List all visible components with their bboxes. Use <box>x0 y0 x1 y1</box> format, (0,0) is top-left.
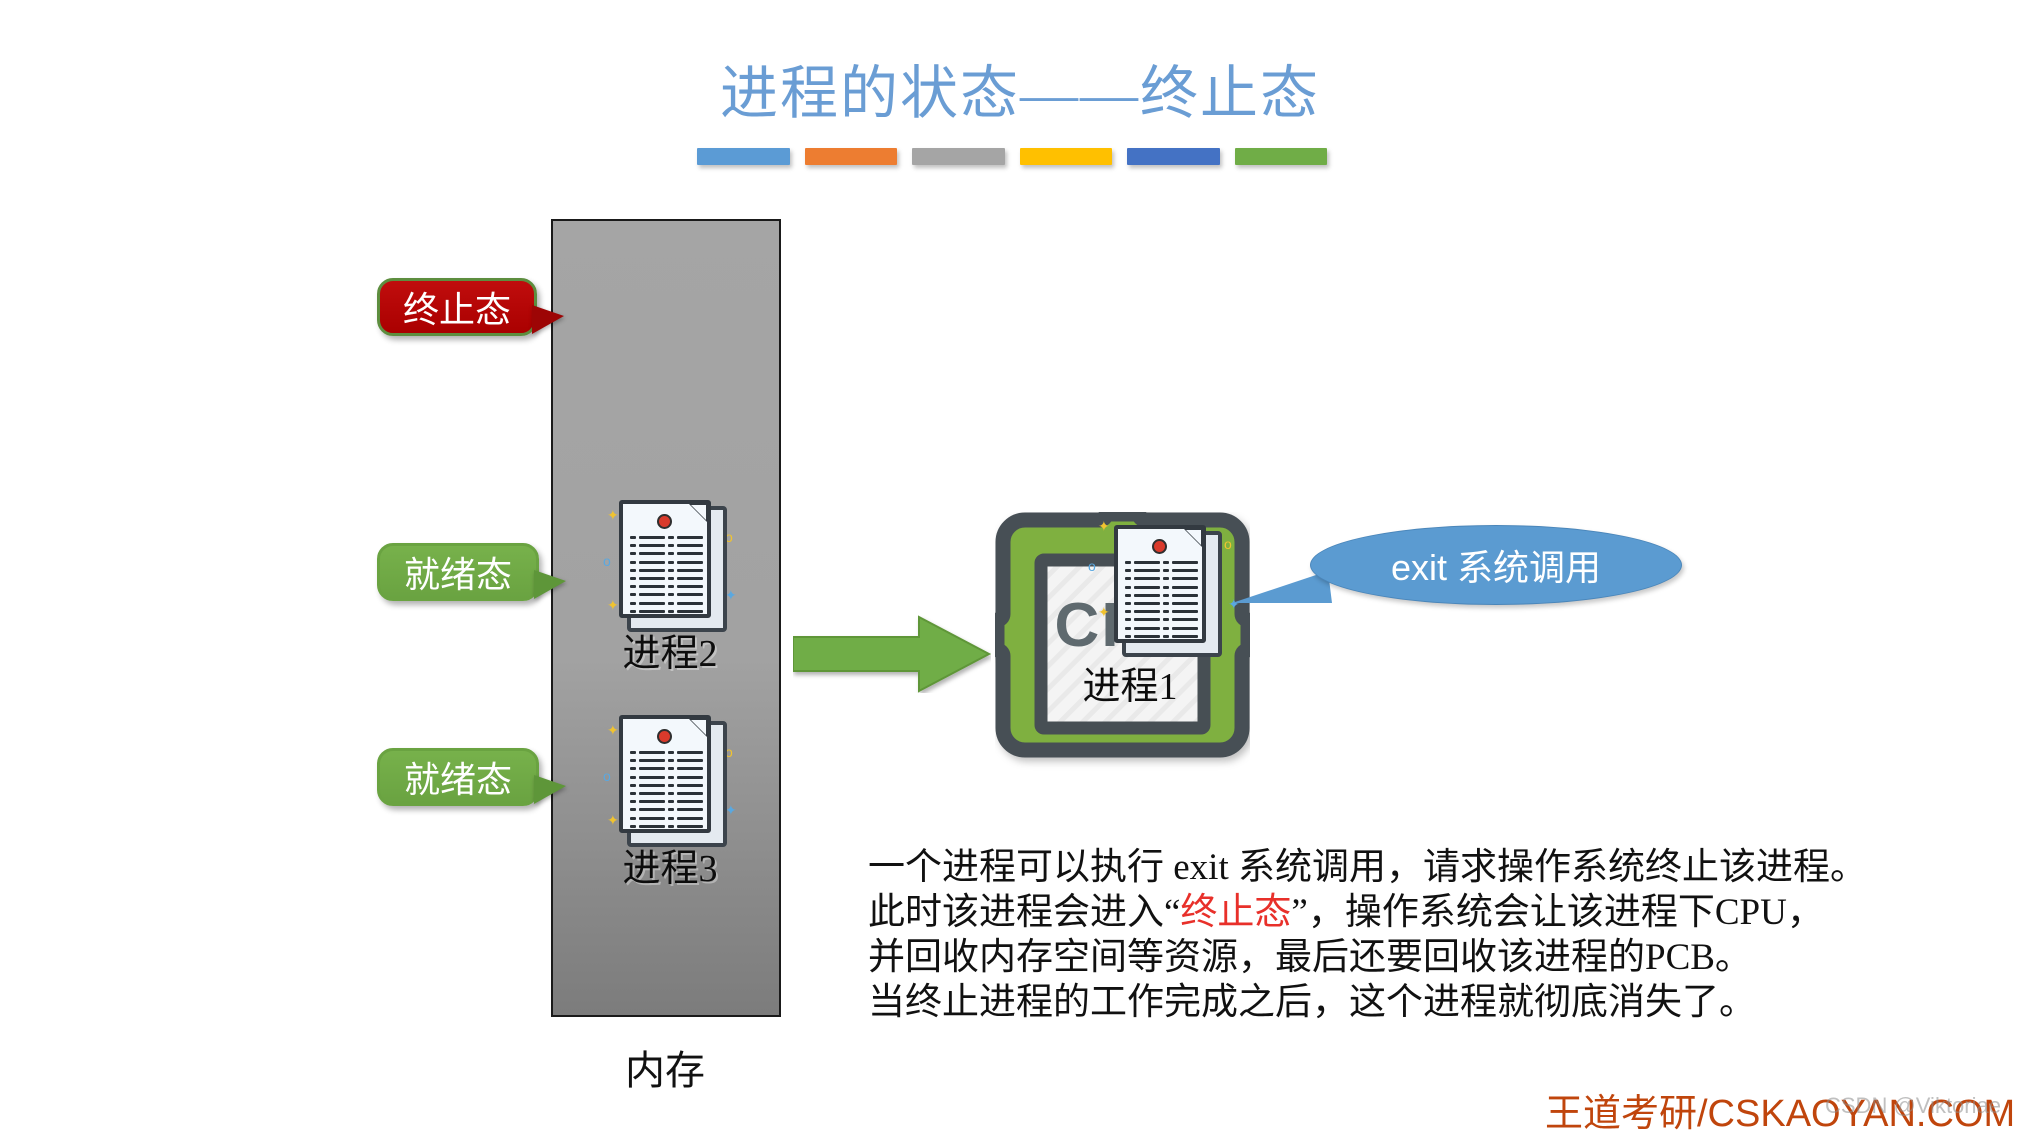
explanation-line-2: 此时该进程会进入“终止态”，操作系统会让该进程下CPU， <box>868 890 1958 935</box>
process-caption: 进程2 <box>570 622 770 677</box>
callout-ready-process2[interactable]: 就绪态 <box>377 543 539 601</box>
callout-terminated[interactable]: 终止态 <box>377 278 537 336</box>
explanation-line-1: 一个进程可以执行 exit 系统调用，请求操作系统终止该进程。 <box>868 845 1958 890</box>
callout-ready-label: 就绪态 <box>404 751 512 803</box>
doc-sheet <box>1114 525 1206 643</box>
explanation-line-4: 当终止进程的工作完成之后，这个进程就彻底消失了。 <box>868 980 1958 1025</box>
sparkle-icon: ✦ <box>1098 519 1110 533</box>
accent-bar-yellow <box>1020 148 1113 165</box>
sparkle-icon: o <box>1224 537 1232 551</box>
explanation-line-3: 并回收内存空间等资源，最后还要回收该进程的PCB。 <box>868 935 1958 980</box>
doc-text-lines <box>630 751 708 833</box>
footer-watermark: CSDN @Viktoriae <box>1825 1093 2001 1119</box>
doc-text-lines <box>1125 561 1203 643</box>
sparkle-icon: o <box>1088 559 1096 573</box>
doc-sheet <box>619 500 711 618</box>
doc-fold-inner <box>691 505 706 520</box>
doc-text-lines <box>630 536 708 618</box>
exit-syscall-label: exit 系统调用 <box>1391 539 1601 591</box>
explanation-line-2-suffix: ”，操作系统会让该进程下CPU， <box>1291 892 1823 933</box>
doc-sheet <box>619 715 711 833</box>
explanation-highlight: 终止态 <box>1180 892 1291 933</box>
explanation-line-2-prefix: 此时该进程会进入“ <box>868 892 1180 933</box>
memory-label: 内存 <box>470 1038 860 1096</box>
sparkle-icon: ✦ <box>1098 605 1110 619</box>
explanation-text: 一个进程可以执行 exit 系统调用，请求操作系统终止该进程。 此时该进程会进入… <box>868 845 1958 1025</box>
sparkle-icon: o <box>603 769 611 783</box>
doc-red-dot-icon <box>1152 539 1167 554</box>
sparkle-icon: ✦ <box>607 813 619 827</box>
accent-bar-dark-blue <box>1127 148 1220 165</box>
accent-bar-blue <box>697 148 790 165</box>
callout-pointer-icon <box>534 775 566 804</box>
page-title: 进程的状态——终止态 <box>0 46 2040 130</box>
running-process-doc-icon: ✦ o ✦ o ✦ <box>1112 525 1216 651</box>
accent-bar-orange <box>805 148 898 165</box>
process-doc-icon: ✦ o ✦ o ✦ <box>617 500 721 626</box>
callout-pointer-icon <box>534 570 566 599</box>
callout-terminated-label: 终止态 <box>403 281 511 333</box>
sparkle-icon: ✦ <box>607 598 619 612</box>
accent-bar-green <box>1235 148 1328 165</box>
callout-pointer-icon <box>532 305 564 334</box>
title-accent-rule <box>697 148 1327 168</box>
process-doc-icon: ✦ o ✦ o ✦ <box>617 715 721 841</box>
exit-syscall-bubble[interactable]: exit 系统调用 <box>1310 525 1682 605</box>
process-caption: 进程3 <box>570 837 770 892</box>
callout-ready-label: 就绪态 <box>404 546 512 598</box>
sparkle-icon: ✦ <box>607 723 619 737</box>
doc-red-dot-icon <box>657 514 672 529</box>
slide-canvas: 进程的状态——终止态 内存 ✦ o ✦ o ✦ <box>0 0 2040 1140</box>
doc-fold-inner <box>1186 530 1201 545</box>
doc-red-dot-icon <box>657 729 672 744</box>
accent-bar-gray <box>912 148 1005 165</box>
doc-fold-inner <box>691 720 706 735</box>
running-process-caption: 进程1 <box>1015 655 1245 710</box>
callout-ready-process3[interactable]: 就绪态 <box>377 748 539 806</box>
sparkle-icon: ✦ <box>607 508 619 522</box>
transition-arrow-icon <box>793 615 991 693</box>
sparkle-icon: o <box>603 554 611 568</box>
